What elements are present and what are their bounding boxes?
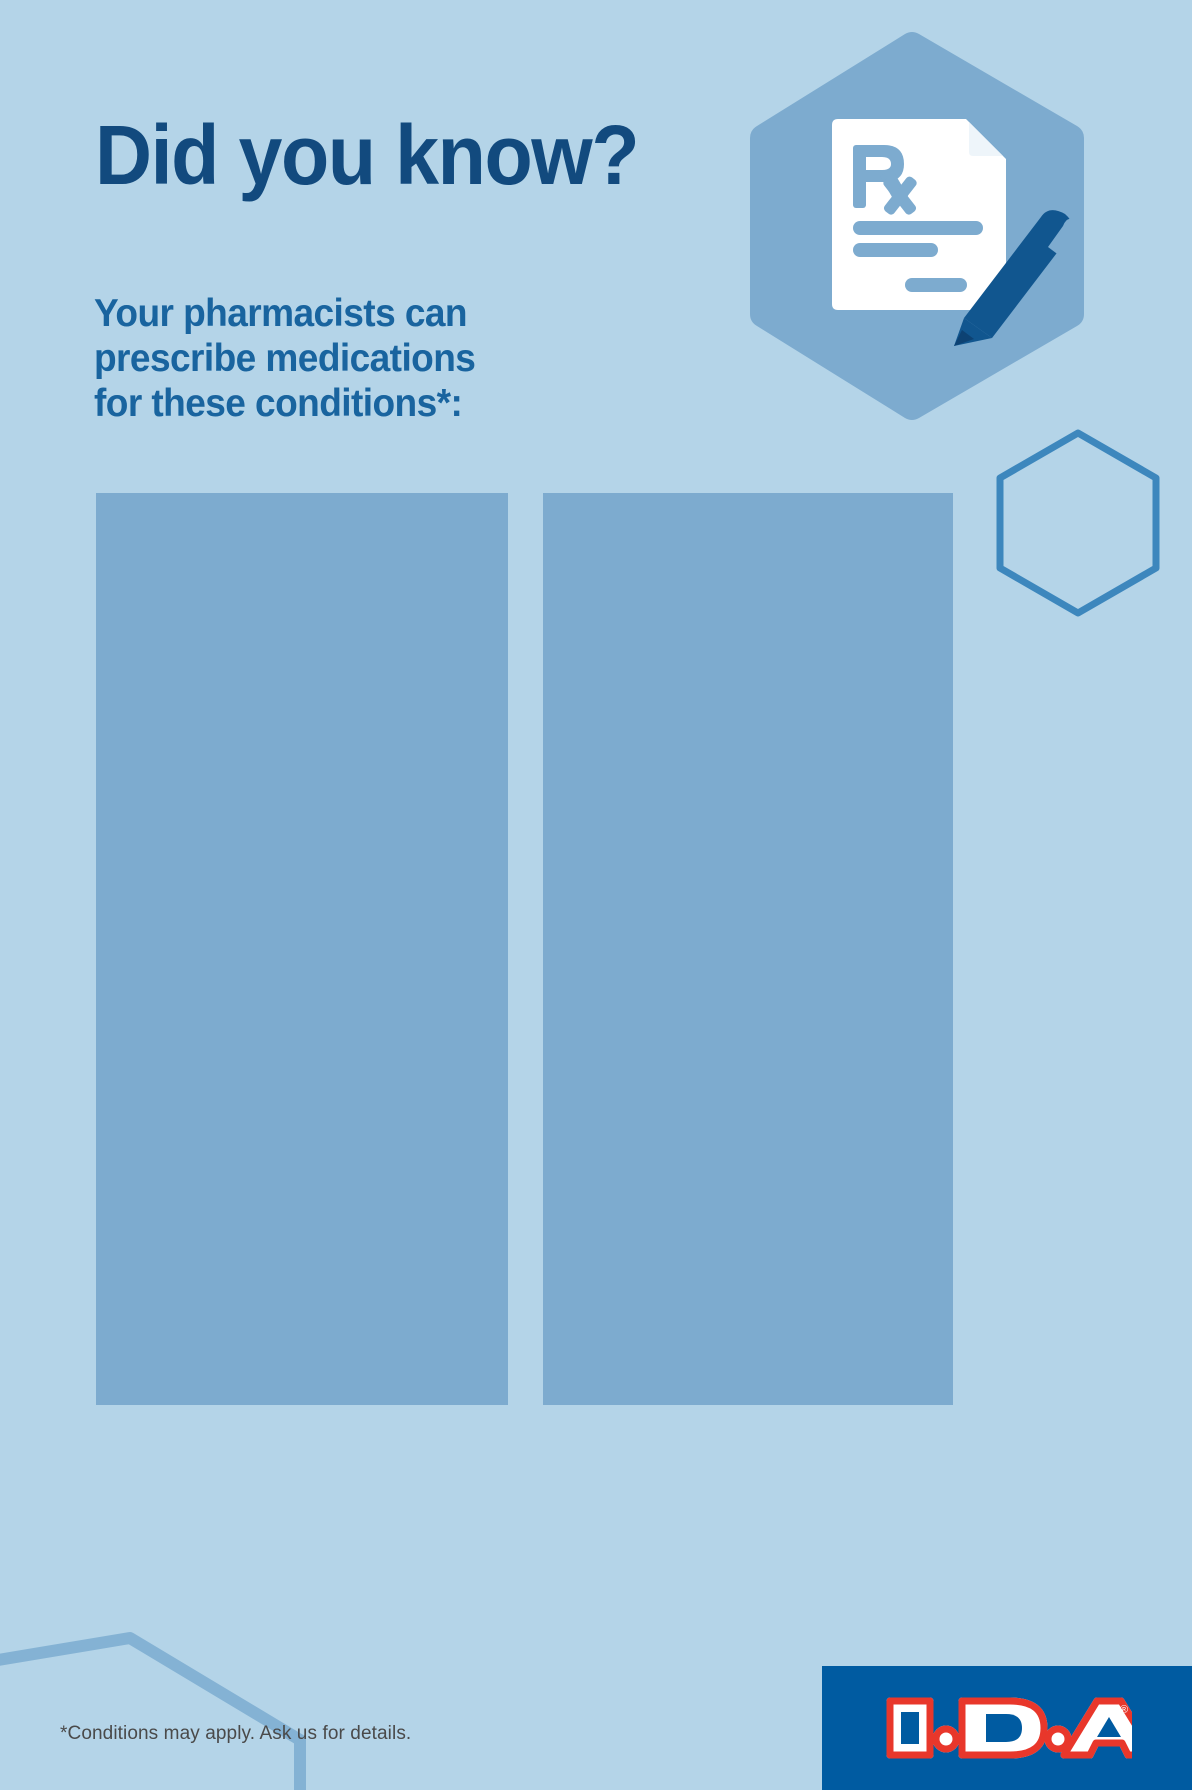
subtitle-line-3: for these conditions*:	[94, 381, 475, 426]
rx-prescription-with-pencil-icon	[748, 28, 1090, 424]
conditions-panel-left	[96, 493, 508, 1405]
rx-prescription-badge	[748, 28, 1090, 424]
poster-canvas: Did you know? Your pharmacists can presc…	[0, 0, 1192, 1790]
subtitle-line-1: Your pharmacists can	[94, 291, 475, 336]
registered-mark: ®	[1120, 1704, 1128, 1716]
page-title: Did you know?	[95, 113, 638, 197]
subtitle-line-2: prescribe medications	[94, 336, 475, 381]
ida-logo-icon: ®	[882, 1691, 1132, 1765]
hexagon-outline-right	[1000, 433, 1156, 613]
hexagon-outline-bottom-left	[0, 1638, 300, 1790]
page-subtitle: Your pharmacists can prescribe medicatio…	[94, 291, 475, 426]
ida-logo: ®	[822, 1666, 1192, 1790]
footnote-text: *Conditions may apply. Ask us for detail…	[60, 1722, 411, 1746]
conditions-panel-right	[543, 493, 953, 1405]
